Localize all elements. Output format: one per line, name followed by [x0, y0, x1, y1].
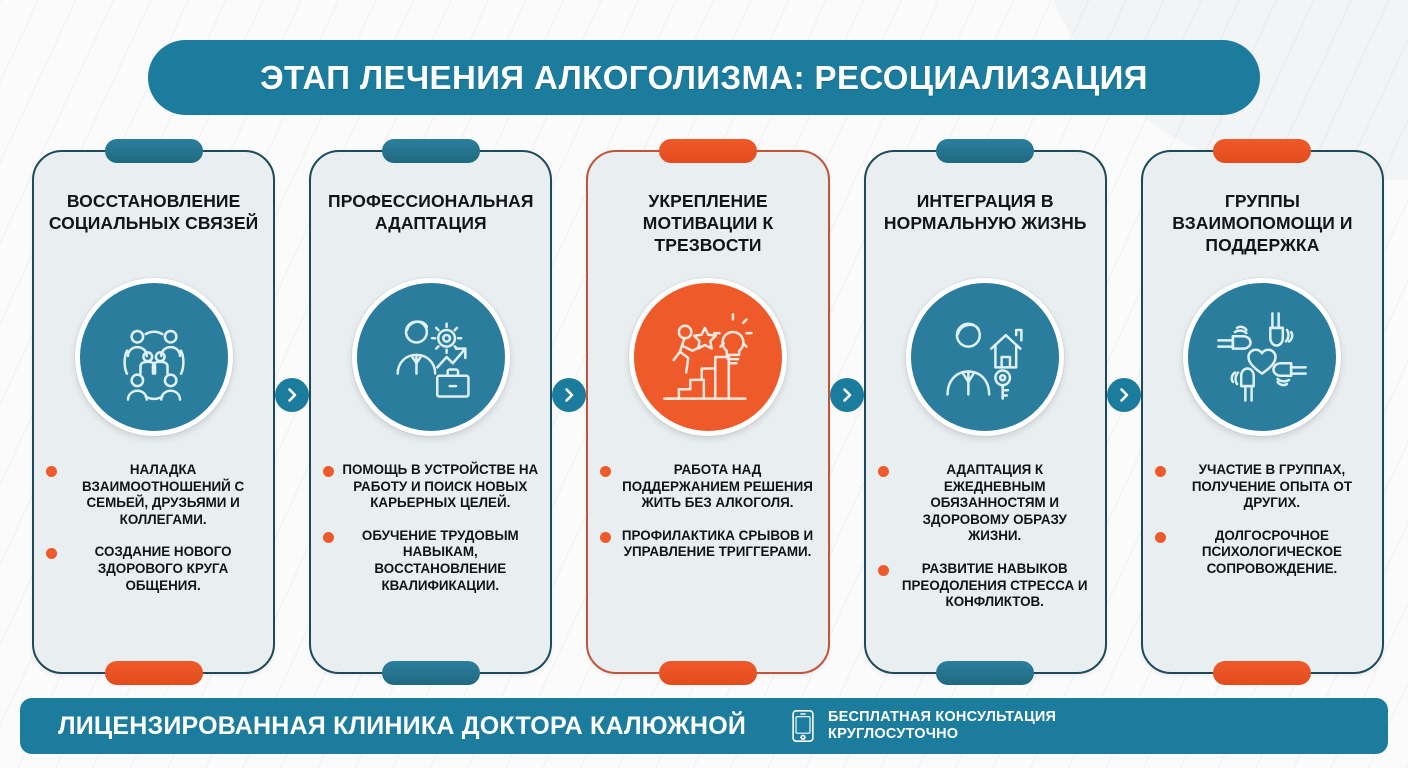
header-pill: ЭТАП ЛЕЧЕНИЯ АЛКОГОЛИЗМА: РЕСОЦИАЛИЗАЦИЯ	[148, 40, 1260, 115]
card-top-tab	[659, 139, 757, 163]
card-bottom-tab	[1213, 661, 1311, 685]
footer-contact: БЕСПЛАТНАЯ КОНСУЛЬТАЦИЯ КРУГЛОСУТОЧНО	[790, 709, 1056, 743]
list-item: РАБОТА НАД ПОДДЕРЖАНИЕМ РЕШЕНИЯ ЖИТЬ БЕЗ…	[600, 462, 815, 512]
bullet-text: УЧАСТИЕ В ГРУППАХ, ПОЛУЧЕНИЕ ОПЫТА ОТ ДР…	[1174, 462, 1370, 512]
bullet-dot-icon	[323, 532, 334, 543]
list-item: АДАПТАЦИЯ К ЕЖЕДНЕВНЫМ ОБЯЗАННОСТЯМ И ЗД…	[878, 462, 1093, 545]
card-bullet-list: УЧАСТИЕ В ГРУППАХ, ПОЛУЧЕНИЕ ОПЫТА ОТ ДР…	[1143, 462, 1382, 578]
bullet-text: РАБОТА НАД ПОДДЕРЖАНИЕМ РЕШЕНИЯ ЖИТЬ БЕЗ…	[619, 462, 815, 512]
mobile-phone-icon	[790, 709, 816, 743]
arrow-connector-wrap	[552, 150, 586, 184]
bullet-dot-icon	[1155, 466, 1166, 477]
bullet-dot-icon	[46, 466, 57, 477]
header: ЭТАП ЛЕЧЕНИЯ АЛКОГОЛИЗМА: РЕСОЦИАЛИЗАЦИЯ	[0, 40, 1408, 115]
bullet-text: СОЗДАНИЕ НОВОГО ЗДОРОВОГО КРУГА ОБЩЕНИЯ.	[65, 544, 261, 594]
businessman-gear-briefcase-icon	[352, 278, 510, 436]
arrow-connector-wrap	[275, 150, 309, 184]
bullet-dot-icon	[1155, 532, 1166, 543]
footer-bar: ЛИЦЕНЗИРОВАННАЯ КЛИНИКА ДОКТОРА КАЛЮЖНОЙ…	[20, 698, 1388, 754]
card-bottom-tab	[382, 661, 480, 685]
bullet-text: ПОМОЩЬ В УСТРОЙСТВЕ НА РАБОТУ И ПОИСК НО…	[342, 462, 538, 512]
card-top-tab	[105, 139, 203, 163]
card-bottom-tab	[105, 661, 203, 685]
card-title: ГРУППЫ ВЗАИМОПОМОЩИ И ПОДДЕРЖКА	[1143, 190, 1382, 264]
footer-contact-line-1: БЕСПЛАТНАЯ КОНСУЛЬТАЦИЯ	[828, 709, 1056, 726]
chevron-right-icon	[552, 378, 586, 412]
page-title: ЭТАП ЛЕЧЕНИЯ АЛКОГОЛИЗМА: РЕСОЦИАЛИЗАЦИЯ	[260, 59, 1148, 97]
card-bullet-list: АДАПТАЦИЯ К ЕЖЕДНЕВНЫМ ОБЯЗАННОСТЯМ И ЗД…	[866, 462, 1105, 611]
bullet-text: РАЗВИТИЕ НАВЫКОВ ПРЕОДОЛЕНИЯ СТРЕССА И К…	[897, 561, 1093, 611]
list-item: СОЗДАНИЕ НОВОГО ЗДОРОВОГО КРУГА ОБЩЕНИЯ.	[46, 544, 261, 594]
list-item: РАЗВИТИЕ НАВЫКОВ ПРЕОДОЛЕНИЯ СТРЕССА И К…	[878, 561, 1093, 611]
person-house-key-icon	[906, 278, 1064, 436]
card-title: ВОССТАНОВЛЕНИЕ СОЦИАЛЬНЫХ СВЯЗЕЙ	[34, 190, 273, 264]
list-item: ДОЛГОСРОЧНОЕ ПСИХОЛОГИЧЕСКОЕ СОПРОВОЖДЕН…	[1155, 528, 1370, 578]
clinic-name: ЛИЦЕНЗИРОВАННАЯ КЛИНИКА ДОКТОРА КАЛЮЖНОЙ	[58, 712, 746, 741]
bullet-dot-icon	[46, 548, 57, 559]
cards-row: ВОССТАНОВЛЕНИЕ СОЦИАЛЬНЫХ СВЯЗЕЙ НАЛАДКА…	[32, 150, 1384, 680]
card-top-tab	[936, 139, 1034, 163]
bullet-text: ДОЛГОСРОЧНОЕ ПСИХОЛОГИЧЕСКОЕ СОПРОВОЖДЕН…	[1174, 528, 1370, 578]
people-network-icon	[75, 278, 233, 436]
stage-card-3[interactable]: УКРЕПЛЕНИЕ МОТИВАЦИИ К ТРЕЗВОСТИ РАБОТА …	[586, 150, 829, 674]
footer-contact-text: БЕСПЛАТНАЯ КОНСУЛЬТАЦИЯ КРУГЛОСУТОЧНО	[828, 709, 1056, 743]
bullet-text: АДАПТАЦИЯ К ЕЖЕДНЕВНЫМ ОБЯЗАННОСТЯМ И ЗД…	[897, 462, 1093, 545]
stage-card-2[interactable]: ПРОФЕССИОНАЛЬНАЯ АДАПТАЦИЯ ПОМОЩЬ В УСТР…	[309, 150, 552, 674]
chevron-right-icon	[830, 378, 864, 412]
bullet-text: НАЛАДКА ВЗАИМООТНОШЕНИЙ С СЕМЬЕЙ, ДРУЗЬЯ…	[65, 462, 261, 528]
card-title: ИНТЕГРАЦИЯ В НОРМАЛЬНУЮ ЖИЗНЬ	[866, 190, 1105, 264]
stage-card-1[interactable]: ВОССТАНОВЛЕНИЕ СОЦИАЛЬНЫХ СВЯЗЕЙ НАЛАДКА…	[32, 150, 275, 674]
card-title: УКРЕПЛЕНИЕ МОТИВАЦИИ К ТРЕЗВОСТИ	[588, 190, 827, 264]
bullet-text: ОБУЧЕНИЕ ТРУДОВЫМ НАВЫКАМ, ВОССТАНОВЛЕНИ…	[342, 528, 538, 594]
card-bullet-list: РАБОТА НАД ПОДДЕРЖАНИЕМ РЕШЕНИЯ ЖИТЬ БЕЗ…	[588, 462, 827, 561]
chevron-right-icon	[1107, 378, 1141, 412]
bullet-dot-icon	[878, 565, 889, 576]
stage-card-5[interactable]: ГРУППЫ ВЗАИМОПОМОЩИ И ПОДДЕРЖКА УЧАСТИЕ …	[1141, 150, 1384, 674]
card-top-tab	[382, 139, 480, 163]
stage-card-4[interactable]: ИНТЕГРАЦИЯ В НОРМАЛЬНУЮ ЖИЗНЬ АДАПТАЦИЯ …	[864, 150, 1107, 674]
arrow-connector-wrap	[1107, 150, 1141, 184]
bullet-dot-icon	[600, 532, 611, 543]
list-item: ПРОФИЛАКТИКА СРЫВОВ И УПРАВЛЕНИЕ ТРИГГЕР…	[600, 528, 815, 561]
bullet-dot-icon	[878, 466, 889, 477]
card-bottom-tab	[936, 661, 1034, 685]
infographic-page: ЭТАП ЛЕЧЕНИЯ АЛКОГОЛИЗМА: РЕСОЦИАЛИЗАЦИЯ…	[0, 0, 1408, 768]
arrow-connector-wrap	[830, 150, 864, 184]
card-bullet-list: НАЛАДКА ВЗАИМООТНОШЕНИЙ С СЕМЬЕЙ, ДРУЗЬЯ…	[34, 462, 273, 594]
person-climbing-stairs-lightbulb-icon	[629, 278, 787, 436]
card-top-tab	[1213, 139, 1311, 163]
footer-contact-line-2: КРУГЛОСУТОЧНО	[828, 726, 1056, 743]
hands-heart-support-icon	[1183, 278, 1341, 436]
bullet-text: ПРОФИЛАКТИКА СРЫВОВ И УПРАВЛЕНИЕ ТРИГГЕР…	[619, 528, 815, 561]
card-title: ПРОФЕССИОНАЛЬНАЯ АДАПТАЦИЯ	[311, 190, 550, 264]
card-bottom-tab	[659, 661, 757, 685]
list-item: УЧАСТИЕ В ГРУППАХ, ПОЛУЧЕНИЕ ОПЫТА ОТ ДР…	[1155, 462, 1370, 512]
bullet-dot-icon	[323, 466, 334, 477]
list-item: ПОМОЩЬ В УСТРОЙСТВЕ НА РАБОТУ И ПОИСК НО…	[323, 462, 538, 512]
list-item: НАЛАДКА ВЗАИМООТНОШЕНИЙ С СЕМЬЕЙ, ДРУЗЬЯ…	[46, 462, 261, 528]
list-item: ОБУЧЕНИЕ ТРУДОВЫМ НАВЫКАМ, ВОССТАНОВЛЕНИ…	[323, 528, 538, 594]
bullet-dot-icon	[600, 466, 611, 477]
chevron-right-icon	[275, 378, 309, 412]
card-bullet-list: ПОМОЩЬ В УСТРОЙСТВЕ НА РАБОТУ И ПОИСК НО…	[311, 462, 550, 594]
